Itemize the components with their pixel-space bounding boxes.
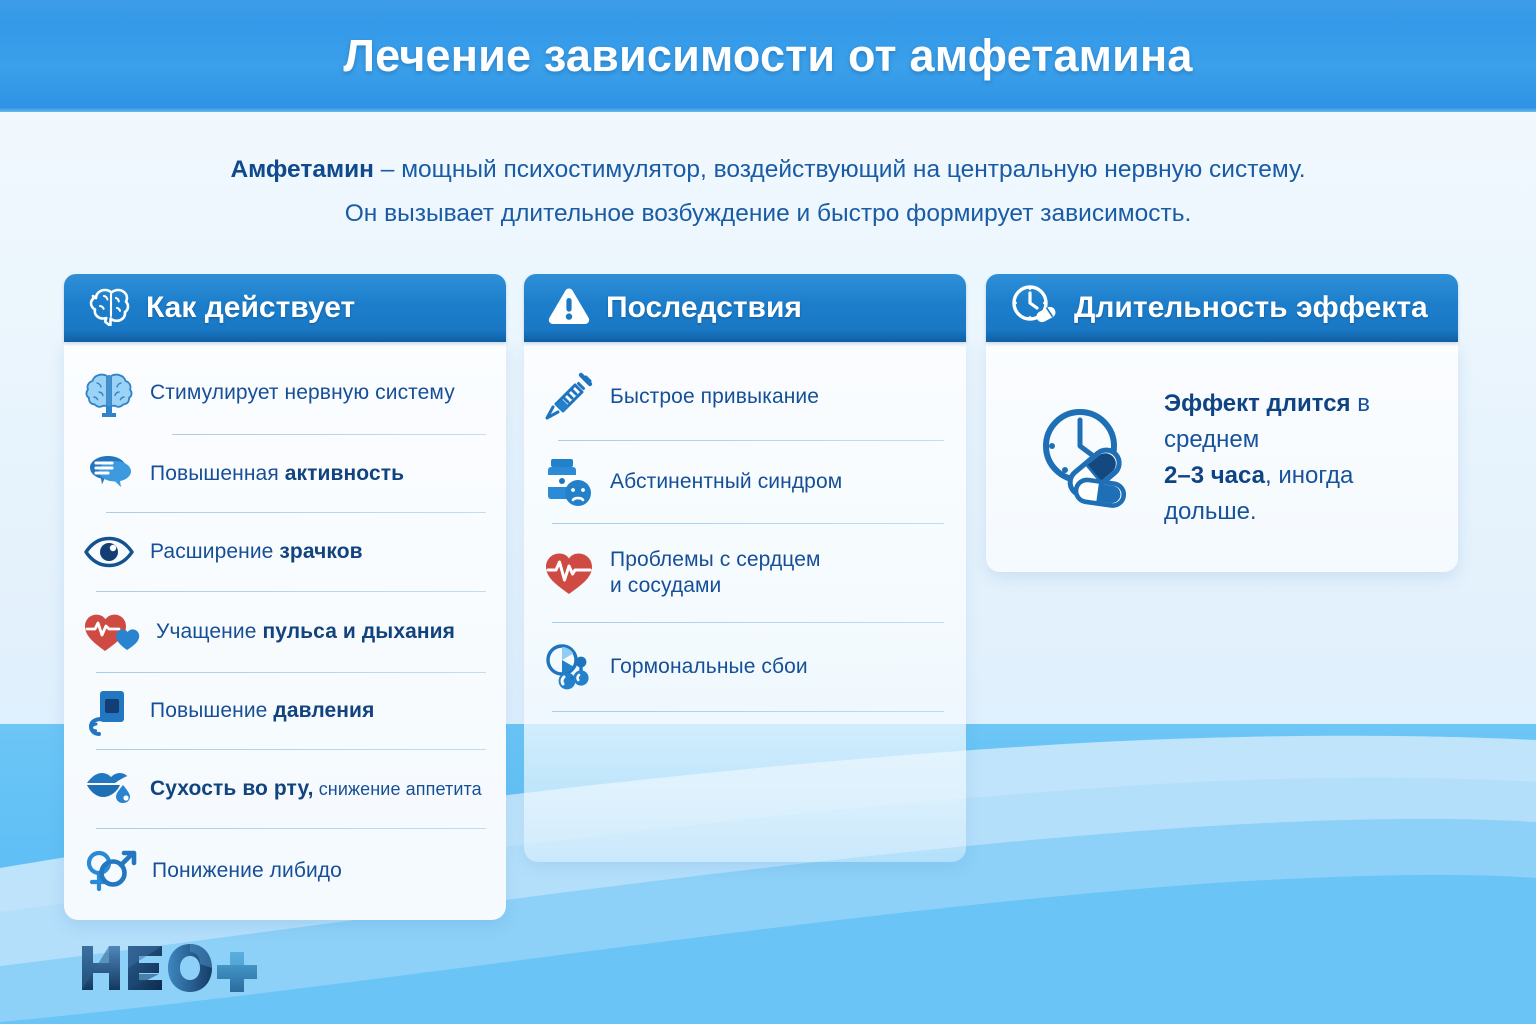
heartbeat-icon [82,608,142,656]
list-item: Повышенная активность [64,435,506,512]
card-consequences: Последствия [524,274,966,862]
card-duration-title: Длительность эффекта [1074,291,1428,325]
list-item-label: Повышенная активность [150,461,404,487]
list-item-emphasis: Сухость во рту, [150,777,314,800]
card-how-it-works-title: Как действует [146,291,355,325]
clock-pills-icon [1008,283,1060,334]
list-item: Гормональные сбои [524,623,966,711]
card-consequences-title: Последствия [606,291,802,325]
brain-icon [86,286,132,331]
list-item-emphasis: зрачков [279,540,362,563]
neo-plus-logo [78,942,260,994]
list-item: Повышение давления [64,673,506,749]
list-item: Учащение пульса и дыхания [64,592,506,672]
clock-pills-large-icon [1032,400,1144,517]
brain-icon [82,366,136,420]
page-header-band: Лечение зависимости от амфетамина [0,0,1536,112]
pill-bottle-sad-icon [542,456,596,508]
card-consequences-header: Последствия [524,274,966,342]
list-item-label: Учащение пульса и дыхания [156,619,455,645]
card-duration-header: Длительность эффекта [986,274,1458,342]
list-item-label: Гормональные сбои [610,654,808,680]
list-item: Понижение либидо [64,829,506,913]
card-duration: Длительность эффекта [986,274,1458,572]
infographic-canvas: Лечение зависимости от амфетамина Амфета… [0,0,1536,1024]
speech-bubble-icon [82,450,136,498]
list-item: Сухость во рту, снижение аппетита [64,750,506,828]
list-item-text-secondary: снижение аппетита [314,779,482,799]
intro-text-block: Амфетамин – мощный психостимулятор, возд… [0,148,1536,236]
list-item-text: Быстрое привыкание [610,385,819,408]
hormones-icon [542,641,596,693]
duration-content: Эффект длится в среднем 2–3 часа, иногда… [986,342,1458,530]
card-duration-body: Эффект длится в среднем 2–3 часа, иногда… [986,342,1458,572]
heart-pulse-icon [542,549,596,597]
list-item-text: Расширение [150,540,279,563]
list-item-text: Абстинентный синдром [610,470,842,493]
intro-line-1: Амфетамин – мощный психостимулятор, возд… [0,148,1536,192]
dry-mouth-icon [82,765,136,813]
list-item-label: Расширение зрачков [150,539,363,565]
duration-text: Эффект длится в среднем 2–3 часа, иногда… [1164,386,1428,530]
list-item-label: Понижение либидо [152,858,342,884]
list-item: Быстрое привыкание [524,354,966,440]
card-how-it-works-body: Стимулирует нервную систему Повышенная а… [64,342,506,920]
list-item-label: Абстинентный синдром [610,469,842,495]
gender-icon [82,845,138,897]
page-title: Лечение зависимости от амфетамина [343,30,1192,82]
list-item-text: Повышенная [150,462,285,485]
eye-icon [82,532,136,572]
list-item-label: Сухость во рту, снижение аппетита [150,776,482,802]
duration-text-emphasis-2: 2–3 часа [1164,462,1265,489]
card-how-it-works-header: Как действует [64,274,506,342]
blood-pressure-icon [82,686,136,736]
list-item-label: Стимулирует нервную систему [150,380,455,406]
list-separator [552,711,944,712]
list-item-text: Понижение либидо [152,859,342,882]
list-item: Проблемы с сердцем и сосудами [524,524,966,622]
list-item-emphasis: давления [273,699,374,722]
intro-keyword: Амфетамин [230,156,374,183]
list-item-text: Повышение [150,699,273,722]
list-item-text: Гормональные сбои [610,655,808,678]
intro-line-2: Он вызывает длительное возбуждение и быс… [0,192,1536,236]
list-item: Абстинентный синдром [524,441,966,523]
warning-triangle-icon [546,285,592,332]
syringe-icon [542,371,596,423]
list-item: Стимулирует нервную систему [64,352,506,434]
list-item-emphasis: активность [285,462,404,485]
list-item-text: Учащение [156,620,262,643]
intro-line-1-rest: – мощный психостимулятор, воздействующий… [374,156,1306,183]
list-item-text: Стимулирует нервную систему [150,381,455,404]
list-item-label: Быстрое привыкание [610,384,819,410]
card-consequences-body: Быстрое привыкание [524,342,966,862]
list-item-label: Повышение давления [150,698,374,724]
list-item: Расширение зрачков [64,513,506,591]
list-item-label: Проблемы с сердцем и сосудами [610,547,821,599]
duration-text-emphasis-1: Эффект длится [1164,390,1351,417]
list-item-emphasis: пульса и дыхания [262,620,455,643]
card-how-it-works: Как действует [64,274,506,920]
